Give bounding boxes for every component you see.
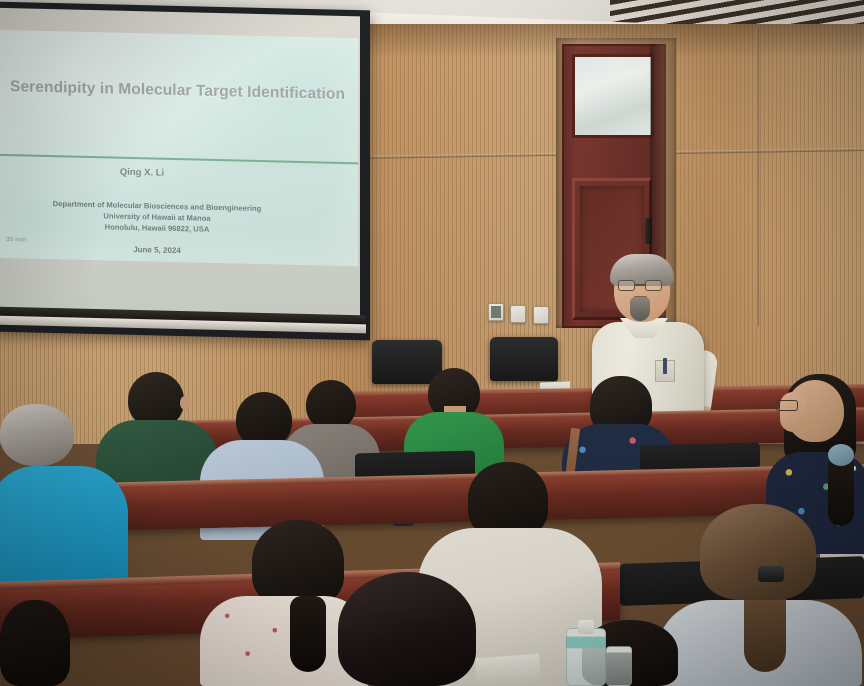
slide-duration-note: 35 min bbox=[6, 236, 27, 243]
wall-switch-plate[interactable] bbox=[510, 305, 526, 323]
door-frosted-glass-panel bbox=[572, 54, 654, 138]
hair-scrunchie bbox=[828, 444, 854, 466]
wall-panel-seam-vertical bbox=[756, 26, 759, 326]
eyeglasses-icon bbox=[618, 280, 635, 291]
paper-sheet[interactable] bbox=[475, 654, 541, 686]
paper-cup[interactable] bbox=[142, 540, 162, 566]
presentation-slide: Serendipity in Molecular Target Identifi… bbox=[0, 30, 358, 267]
attendee-head bbox=[700, 504, 816, 600]
eyeglasses-icon bbox=[645, 280, 662, 291]
wall-switch-screen bbox=[491, 306, 501, 318]
attendee-face bbox=[780, 392, 806, 432]
eyeglasses-bridge bbox=[635, 284, 645, 286]
executive-chair-back[interactable] bbox=[490, 337, 558, 381]
wall-switch-plate[interactable] bbox=[533, 306, 549, 324]
attendee-head bbox=[252, 520, 344, 606]
mint-water-bottle[interactable] bbox=[566, 628, 606, 686]
attendee-ear bbox=[180, 396, 190, 410]
pen-icon bbox=[663, 358, 667, 374]
executive-chair-back[interactable] bbox=[372, 340, 442, 384]
clear-plastic-bottle[interactable] bbox=[606, 646, 632, 686]
attendee-ponytail bbox=[828, 456, 854, 526]
door-hinge-icon bbox=[645, 218, 652, 244]
bottle-cap-icon bbox=[578, 620, 594, 634]
lecture-hall-photo: Serendipity in Molecular Target Identifi… bbox=[0, 0, 864, 686]
presenter-goatee bbox=[630, 297, 650, 321]
hair-clip-icon bbox=[758, 566, 784, 582]
attendee-ponytail bbox=[290, 596, 326, 672]
eyeglasses-icon bbox=[776, 400, 798, 411]
attendee-head bbox=[0, 404, 74, 466]
attendee-head bbox=[468, 462, 548, 538]
edge-attendee-head bbox=[0, 600, 70, 686]
attendee-head bbox=[306, 380, 356, 430]
dark-hair-attendee bbox=[338, 572, 476, 686]
